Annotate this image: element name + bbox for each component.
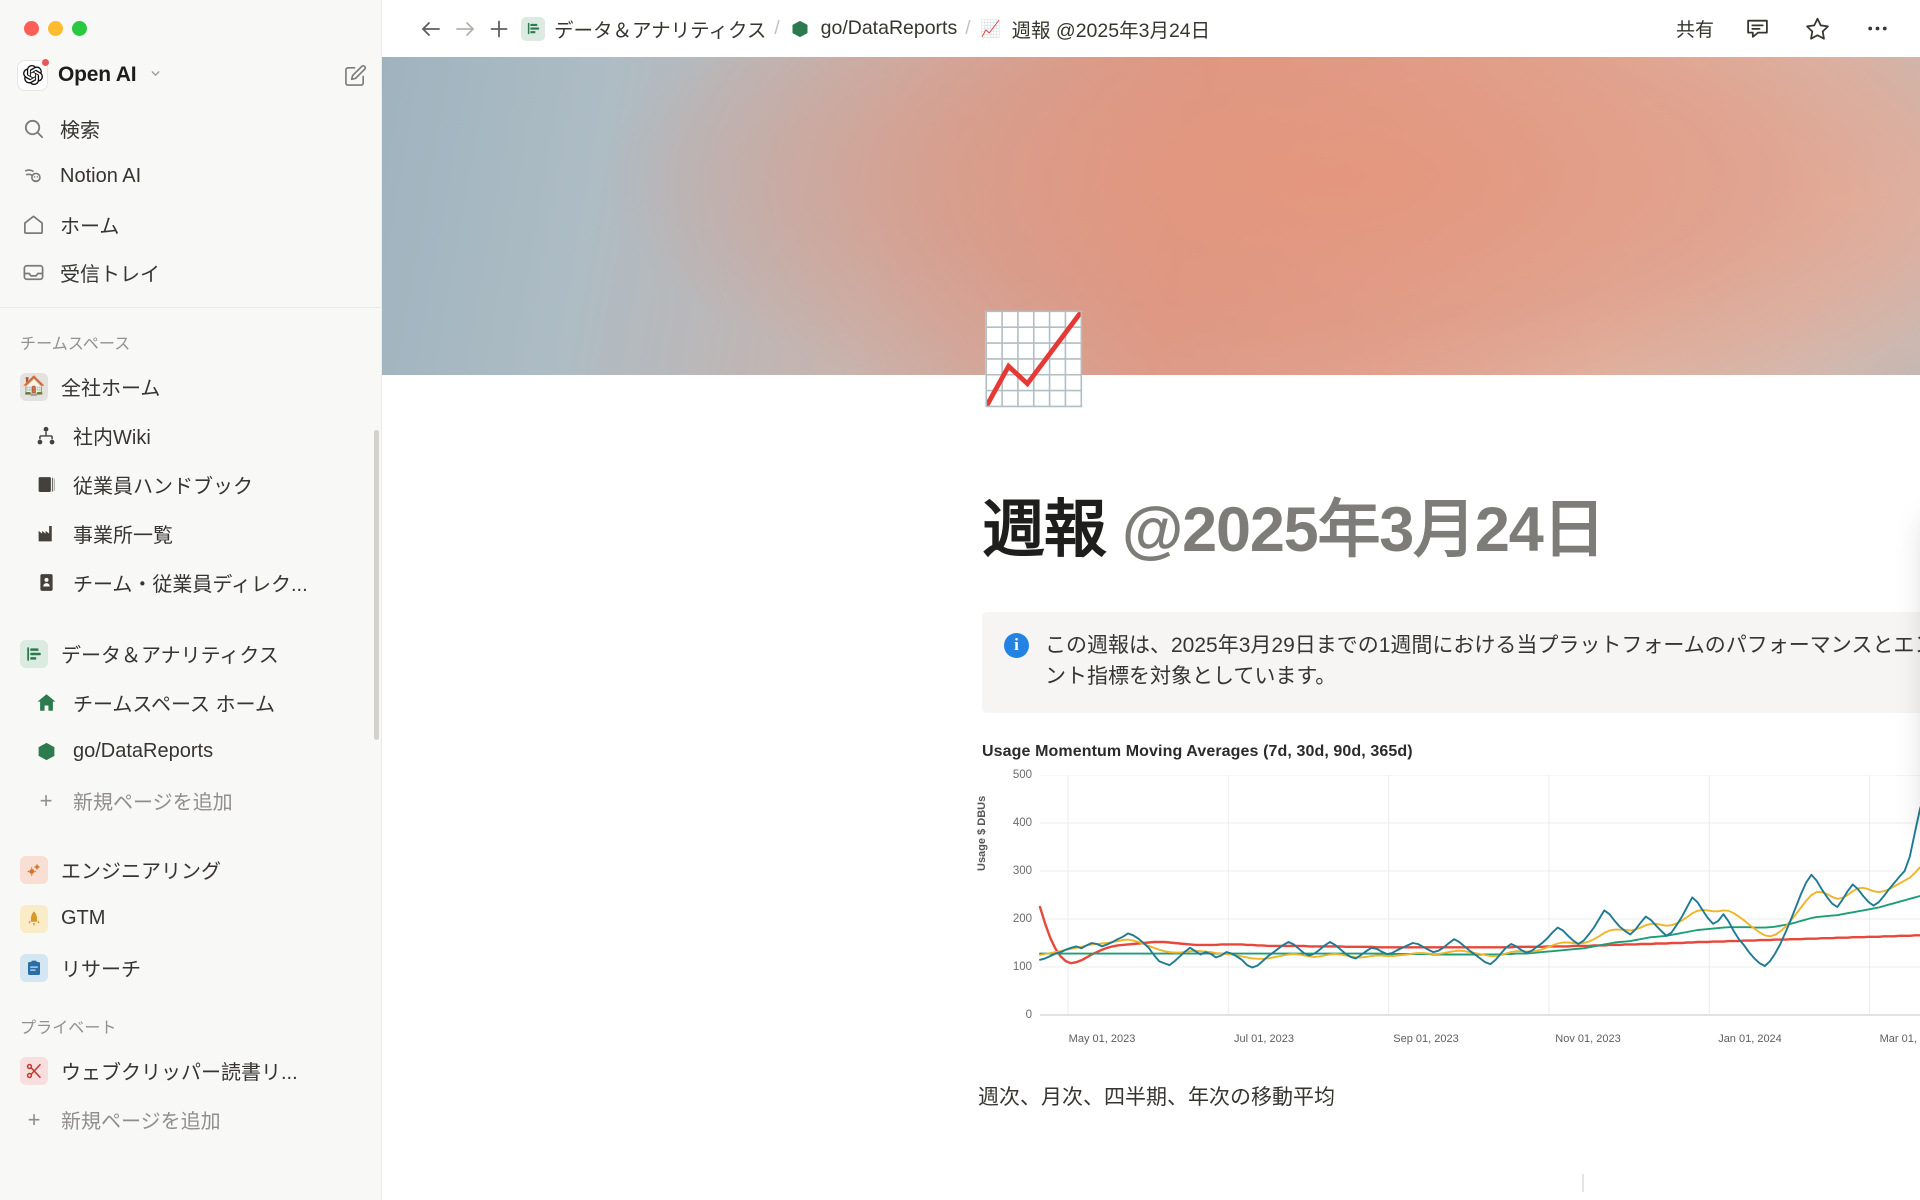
chart-series-line (1040, 794, 1920, 968)
house-icon: 🏠 (20, 373, 48, 401)
ellipsis-icon[interactable] (1860, 12, 1894, 46)
chart-x-tick: Nov 01, 2023 (1555, 1033, 1620, 1045)
scissors-icon (20, 1057, 48, 1085)
private-section-label: プライベート (0, 992, 381, 1046)
sidebar-item-label: チーム・従業員ディレク... (73, 568, 308, 597)
notebook-icon (32, 471, 60, 499)
callout-block[interactable]: i この週報は、2025年3月29日までの1週間における当プラットフォームのパフ… (982, 612, 1920, 714)
page-title-main: 週報 (982, 495, 1106, 565)
chevron-down-icon[interactable] (149, 67, 162, 83)
factory-icon (32, 520, 60, 548)
sidebar-item-notion-ai[interactable]: Notion AI (0, 152, 381, 200)
sidebar-item-inbox[interactable]: 受信トレイ (0, 248, 381, 296)
sidebar-item-go-datareports[interactable]: go/DataReports (0, 727, 381, 776)
sidebar-item-label: 新規ページを追加 (61, 1105, 221, 1134)
chart-title: Usage Momentum Moving Averages (7d, 30d,… (974, 743, 1920, 761)
chart-caption: 週次、月次、四半期、年次の移動平均 (978, 1081, 1920, 1111)
plus-icon: + (20, 1107, 48, 1133)
main-content: データ＆アナリティクス / go/DataReports / 📈 週報 @202… (382, 0, 1920, 1200)
sidebar-add-page-private[interactable]: + 新規ページを追加 (0, 1095, 381, 1144)
callout-text: この週報は、2025年3月29日までの1週間における当プラットフォームのパフォー… (1045, 630, 1920, 694)
sidebar-item-label: 全社ホーム (61, 372, 160, 401)
hexagon-green-icon (788, 17, 812, 41)
sidebar-item-web-clipper[interactable]: ウェブクリッパー読書リ... (0, 1046, 381, 1095)
page-bottom-divider (1582, 1174, 1584, 1192)
chart-increasing-icon: 📈 (979, 17, 1003, 41)
house-green-icon (32, 689, 60, 717)
sidebar-item-label: GTM (61, 907, 105, 930)
chart-plot-area: Usage $ DBUs 500 400 300 200 100 0 May 0… (974, 775, 1920, 1065)
sidebar-item-label: 従業員ハンドブック (73, 470, 253, 499)
maximize-window-button[interactable] (72, 21, 87, 36)
sidebar-item-label: Notion AI (60, 165, 141, 188)
workspace-switcher[interactable]: Open AI (0, 52, 381, 98)
sidebar-item-label: チームスペース ホーム (73, 688, 275, 717)
hexagon-green-icon (32, 738, 60, 766)
home-icon (20, 213, 46, 236)
chart-svg (974, 775, 1920, 1065)
chart-x-tick: Jan 01, 2024 (1718, 1033, 1782, 1045)
chart-x-tick: May 01, 2023 (1069, 1033, 1136, 1045)
minimize-window-button[interactable] (48, 21, 63, 36)
arrow-right-icon[interactable] (448, 12, 482, 46)
close-window-button[interactable] (24, 21, 39, 36)
sidebar-item-company-home[interactable]: 🏠 全社ホーム (0, 362, 381, 411)
bar-chart-icon (521, 17, 545, 41)
sidebar-item-label: リサーチ (61, 953, 141, 982)
breadcrumb-label: go/DataReports (821, 17, 958, 40)
sidebar-item-label: 新規ページを追加 (73, 786, 233, 815)
chart-series-line (1040, 890, 1920, 955)
arrow-left-icon[interactable] (414, 12, 448, 46)
info-icon: i (1004, 633, 1029, 658)
plus-icon: + (32, 788, 60, 814)
page-title[interactable]: 週報 @2025年3月24日 (982, 495, 1920, 566)
sidebar-item-label: データ＆アナリティクス (61, 639, 279, 668)
id-card-icon (32, 569, 60, 597)
top-bar-actions: 共有 (1676, 12, 1894, 46)
sidebar-item-label: ホーム (60, 210, 119, 239)
sidebar-item-label: go/DataReports (73, 740, 213, 763)
new-page-compose-icon[interactable] (344, 64, 367, 87)
people-network-icon (32, 422, 60, 450)
openai-logo-icon (18, 61, 47, 90)
chart-x-tick: Sep 01, 2023 (1393, 1033, 1458, 1045)
teamspace-section-label: チームスペース (0, 308, 381, 362)
chart-block[interactable]: Usage Momentum Moving Averages (7d, 30d,… (974, 743, 1920, 1065)
sidebar-item-employee-handbook[interactable]: 従業員ハンドブック (0, 460, 381, 509)
sidebar-item-label: ウェブクリッパー読書リ... (61, 1056, 298, 1085)
sidebar-item-research[interactable]: リサーチ (0, 943, 381, 992)
sidebar-item-label: 受信トレイ (60, 258, 160, 287)
search-icon (20, 117, 46, 140)
page-title-date: @2025年3月24日 (1106, 495, 1605, 565)
sidebar-item-label: 検索 (60, 114, 100, 143)
sidebar: Open AI 検索 Notion AI (0, 0, 382, 1200)
breadcrumb-current-page[interactable]: 📈 週報 @2025年3月24日 (974, 14, 1216, 43)
workspace-name: Open AI (58, 63, 136, 87)
clipboard-icon (20, 954, 48, 982)
gears-icon (20, 856, 48, 884)
bar-chart-icon (20, 640, 48, 668)
sidebar-item-data-analytics[interactable]: データ＆アナリティクス (0, 629, 381, 678)
sidebar-item-label: エンジニアリング (61, 855, 221, 884)
sidebar-scrollbar[interactable] (374, 430, 379, 740)
sidebar-item-teamspace-home[interactable]: チームスペース ホーム (0, 678, 381, 727)
sidebar-item-label: 事業所一覧 (73, 519, 173, 548)
sidebar-item-internal-wiki[interactable]: 社内Wiki (0, 411, 381, 460)
breadcrumb-label: データ＆アナリティクス (554, 14, 766, 43)
sidebar-item-search[interactable]: 検索 (0, 104, 381, 152)
sidebar-item-office-list[interactable]: 事業所一覧 (0, 509, 381, 558)
window-traffic-lights[interactable] (0, 0, 381, 36)
page-icon-chart-increasing-icon[interactable]: 📈 (982, 307, 1086, 411)
breadcrumb-separator: / (962, 18, 973, 40)
notion-ai-icon (20, 165, 46, 188)
notion-app-window: Open AI 検索 Notion AI (0, 0, 1920, 1200)
workspace-unread-badge (41, 58, 50, 67)
breadcrumb-data-analytics[interactable]: データ＆アナリティクス (516, 14, 771, 43)
inbox-icon (20, 261, 46, 284)
chart-series-line (1040, 864, 1920, 960)
comment-icon[interactable] (1740, 12, 1774, 46)
sidebar-item-home[interactable]: ホーム (0, 200, 381, 248)
star-icon[interactable] (1800, 12, 1834, 46)
breadcrumb-separator: / (771, 18, 782, 40)
sidebar-add-page-data-analytics[interactable]: + 新規ページを追加 (0, 776, 381, 825)
chart-x-tick: Mar 01, 2024 (1880, 1033, 1920, 1045)
sidebar-primary-nav: 検索 Notion AI ホーム 受信トレイ (0, 98, 381, 296)
sidebar-item-gtm[interactable]: GTM (0, 894, 381, 943)
sidebar-item-label: 社内Wiki (73, 421, 151, 450)
page-body: 📈 週報 @2025年3月24日 i この週報は、2025年3月29日までの1週… (382, 307, 1920, 1111)
sidebar-item-team-directory[interactable]: チーム・従業員ディレク... (0, 558, 381, 607)
chart-x-tick: Jul 01, 2023 (1234, 1033, 1294, 1045)
share-button[interactable]: 共有 (1676, 15, 1714, 42)
sidebar-item-engineering[interactable]: エンジニアリング (0, 845, 381, 894)
plus-icon[interactable] (482, 12, 516, 46)
breadcrumb-label: 週報 @2025年3月24日 (1012, 14, 1211, 43)
breadcrumb-go-datareports[interactable]: go/DataReports (783, 17, 963, 41)
rocket-icon (20, 905, 48, 933)
top-bar: データ＆アナリティクス / go/DataReports / 📈 週報 @202… (382, 0, 1920, 57)
